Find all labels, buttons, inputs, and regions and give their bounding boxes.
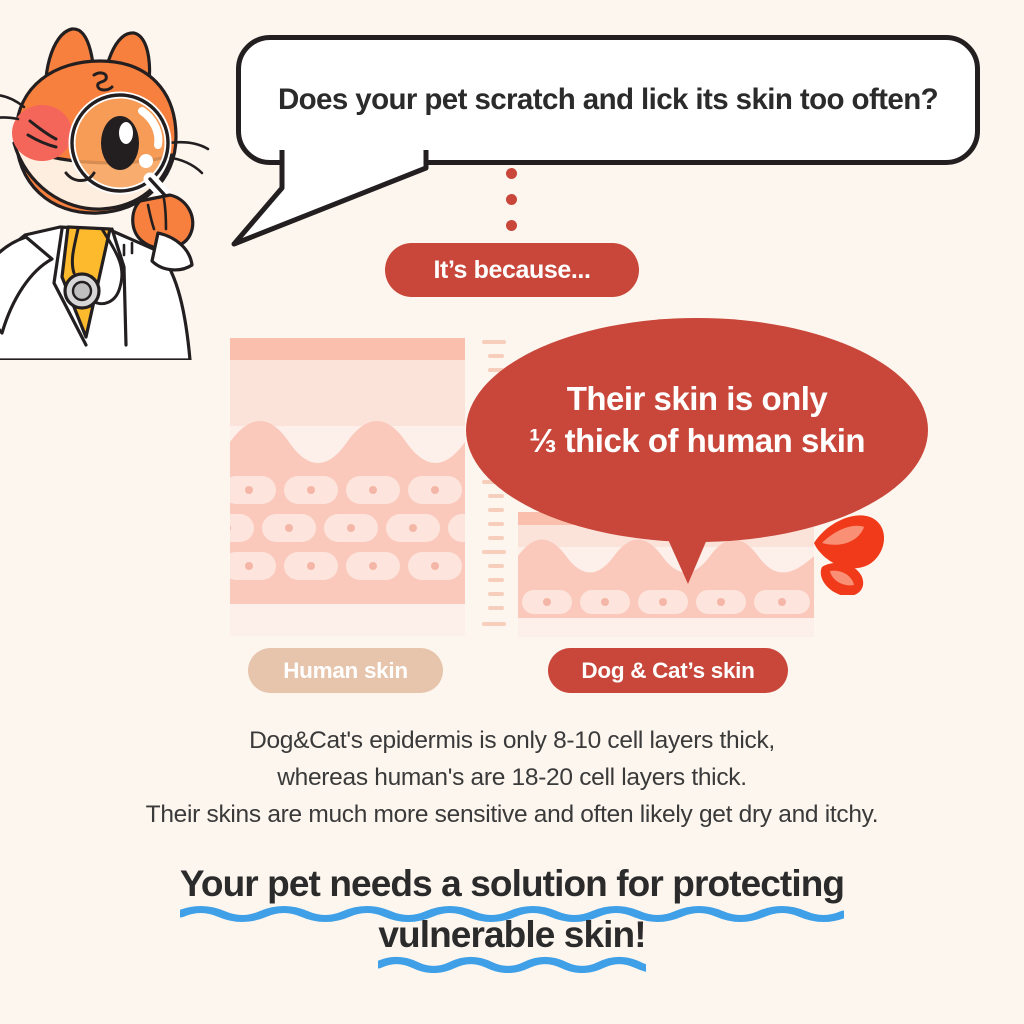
headline-line-1-wrap: Your pet needs a solution for protecting — [180, 858, 844, 909]
body-copy-line-2: whereas human's are 18-20 cell layers th… — [0, 759, 1024, 796]
body-copy-line-1: Dog&Cat's epidermis is only 8-10 cell la… — [0, 722, 1024, 759]
connector-dot — [506, 194, 517, 205]
speech-bubble-tail — [230, 150, 430, 250]
main-speech-bubble: Does your pet scratch and lick its skin … — [236, 35, 980, 165]
body-copy-line-3: Their skins are much more sensitive and … — [0, 796, 1024, 833]
body-copy: Dog&Cat's epidermis is only 8-10 cell la… — [0, 722, 1024, 834]
irritation-droplets — [810, 505, 890, 595]
human-skin-label-text: Human skin — [283, 658, 408, 684]
connector-dot — [506, 220, 517, 231]
infographic-root: Does your pet scratch and lick its skin … — [0, 0, 1024, 1024]
headline: Your pet needs a solution for protecting… — [0, 858, 1024, 960]
headline-line-2-wrap: vulnerable skin! — [378, 909, 645, 960]
wave-underline-icon — [378, 955, 645, 973]
headline-line-2: vulnerable skin! — [378, 914, 645, 955]
pet-skin-label: Dog & Cat’s skin — [548, 648, 788, 693]
because-pill-label: It’s because... — [433, 256, 590, 285]
dotted-connector — [506, 168, 518, 234]
speech-bubble-text: Does your pet scratch and lick its skin … — [278, 83, 938, 117]
headline-line-1: Your pet needs a solution for protecting — [180, 863, 844, 904]
because-pill: It’s because... — [385, 243, 639, 297]
connector-dot — [506, 168, 517, 179]
human-skin-diagram — [230, 338, 465, 636]
cat-doctor-mascot — [0, 15, 230, 360]
pet-skin-label-text: Dog & Cat’s skin — [581, 658, 754, 684]
human-skin-label: Human skin — [248, 648, 443, 693]
